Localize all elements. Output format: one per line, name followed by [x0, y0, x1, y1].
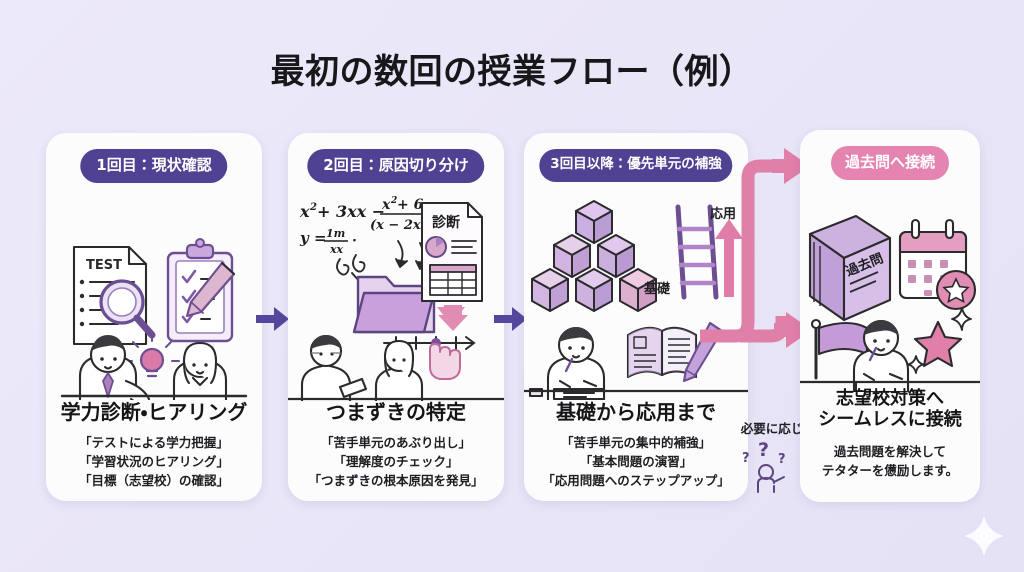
step-2-bullet-2: 「理解度のチェック」: [288, 452, 504, 471]
arrow-step1-to-step2: [256, 306, 290, 332]
svg-text:2: 2: [309, 202, 317, 213]
step-3-bullets: 「苦手単元の集中的補強」 「基本問題の演習」 「応用問題へのステップアップ」: [524, 433, 748, 490]
svg-text:?: ?: [758, 439, 769, 461]
svg-text:?: ?: [778, 452, 786, 467]
step-2-pill-label: 2回目：原因切り分け: [307, 149, 484, 183]
svg-text:·: ·: [352, 233, 357, 249]
page-title: 最初の数回の授業フロー（例）: [0, 44, 1024, 93]
svg-text:TEST: TEST: [86, 258, 122, 273]
step-4-bullets: 過去問題を解決して テタターを憊励します。: [800, 442, 980, 480]
step-3-bullet-2: 「基本問題の演習」: [524, 452, 748, 471]
arrow-step2-to-step3: [494, 306, 528, 332]
svg-text:y =: y =: [299, 229, 327, 247]
step-1-bullet-1: 「テストによる学力把握」: [46, 433, 262, 452]
step-2-bullet-3: 「つまずきの根本原因を発見」: [288, 471, 504, 490]
step-4-headline-line-1: 志望校対策へ: [800, 388, 980, 409]
step-4-pill-label: 過去問へ接続: [831, 146, 949, 180]
step-4-bullet-2: テタターを憊励します。: [800, 461, 980, 480]
svg-text:基礎: 基礎: [643, 281, 671, 297]
step-card-1[interactable]: 1回目：現状確認 TEST: [46, 133, 262, 501]
step-2-illustration: x 2 + 3xx − x 2 + 6 (x − 2x2) 2 y = 1m x…: [288, 181, 504, 401]
step-1-bullet-3: 「目標（志望校）の確認」: [46, 471, 262, 490]
step-1-pill-label: 1回目：現状確認: [80, 149, 227, 183]
step-2-bullets: 「苦手単元のあぶり出し」 「理解度のチェック」 「つまずきの根本原因を発見」: [288, 433, 504, 490]
step-3-bullet-3: 「応用問題へのステップアップ」: [524, 471, 748, 490]
step-1-headline: 学力診断・ヒアリング: [46, 401, 262, 425]
svg-text:?: ?: [742, 451, 750, 466]
step-2-bullet-1: 「苦手単元のあぶり出し」: [288, 433, 504, 452]
svg-text:x: x: [381, 197, 391, 213]
step-card-2[interactable]: 2回目：原因切り分け x 2 + 3xx − x 2 + 6 (x − 2x2)…: [288, 133, 504, 501]
svg-text:1m: 1m: [326, 227, 345, 240]
step-4-headline: 志望校対策へ シームレスに接続: [800, 388, 980, 430]
step-1-illustration: TEST: [46, 185, 262, 400]
step-4-headline-line-2: シームレスに接続: [800, 409, 980, 430]
step-3-headline: 基礎から応用まで: [524, 401, 748, 425]
step-4-illustration: 過去問: [800, 180, 980, 392]
svg-text:+ 6: + 6: [397, 197, 424, 213]
step-2-headline: つまずきの特定: [288, 401, 504, 425]
svg-text:x: x: [299, 202, 310, 221]
svg-text:xx: xx: [329, 243, 344, 256]
question-person-icon: ? ? ?: [736, 436, 800, 494]
svg-text:診断: 診断: [432, 214, 460, 231]
step-3-bullet-1: 「苦手単元の集中的補強」: [524, 433, 748, 452]
step-4-bullet-1: 過去問題を解決して: [800, 442, 980, 461]
sparkle-icon: [962, 514, 1006, 558]
step-1-bullets: 「テストによる学力把握」 「学習状況のヒアリング」 「目標（志望校）の確認」: [46, 433, 262, 490]
step-1-bullet-2: 「学習状況のヒアリング」: [46, 452, 262, 471]
step-card-4[interactable]: 過去問へ接続 過去問: [800, 130, 980, 502]
